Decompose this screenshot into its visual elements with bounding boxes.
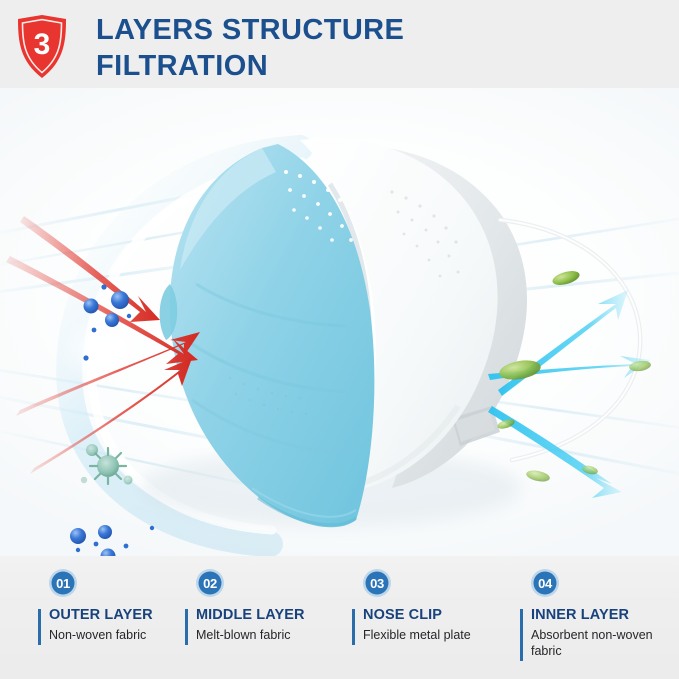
title-line-2: FILTRATION [96, 48, 636, 84]
shield-number: 3 [14, 14, 70, 80]
number-badge-04: 04 [530, 568, 560, 598]
accent-rule [352, 609, 355, 645]
badge-number-01: 01 [48, 568, 78, 598]
badge-number-03: 03 [362, 568, 392, 598]
legend-item-nose-clip: 03 NOSE CLIP Flexible metal plate [352, 568, 522, 643]
layer-legend: 01 OUTER LAYER Non-woven fabric 02 MIDDL… [0, 556, 679, 679]
legend-title-03: NOSE CLIP [363, 607, 522, 624]
accent-rule [520, 609, 523, 661]
legend-text-02: MIDDLE LAYER Melt-blown fabric [185, 607, 345, 643]
legend-text-04: INNER LAYER Absorbent non-woven fabric [520, 607, 670, 659]
page-title: LAYERS STRUCTURE FILTRATION [96, 12, 636, 84]
infographic-page: 3 LAYERS STRUCTURE FILTRATION [0, 0, 679, 679]
legend-item-inner-layer: 04 INNER LAYER Absorbent non-woven fabri… [520, 568, 670, 659]
legend-title-01: OUTER LAYER [49, 607, 188, 624]
legend-text-03: NOSE CLIP Flexible metal plate [352, 607, 522, 643]
face-mask [140, 139, 640, 528]
legend-desc-04: Absorbent non-woven fabric [531, 627, 670, 659]
mask-illustration [0, 88, 679, 556]
header: 3 LAYERS STRUCTURE FILTRATION [0, 0, 679, 96]
legend-item-outer-layer: 01 OUTER LAYER Non-woven fabric [38, 568, 188, 643]
number-badge-02: 02 [195, 568, 225, 598]
shield-icon: 3 [14, 14, 70, 80]
legend-item-middle-layer: 02 MIDDLE LAYER Melt-blown fabric [185, 568, 345, 643]
number-badge-03: 03 [362, 568, 392, 598]
legend-title-04: INNER LAYER [531, 607, 670, 624]
title-line-1: LAYERS STRUCTURE [96, 12, 636, 48]
number-badge-01: 01 [48, 568, 78, 598]
legend-text-01: OUTER LAYER Non-woven fabric [38, 607, 188, 643]
legend-desc-02: Melt-blown fabric [196, 627, 345, 643]
accent-rule [185, 609, 188, 645]
badge-number-04: 04 [530, 568, 560, 598]
legend-desc-01: Non-woven fabric [49, 627, 188, 643]
accent-rule [38, 609, 41, 645]
badge-number-02: 02 [195, 568, 225, 598]
legend-desc-03: Flexible metal plate [363, 627, 522, 643]
legend-title-02: MIDDLE LAYER [196, 607, 345, 624]
